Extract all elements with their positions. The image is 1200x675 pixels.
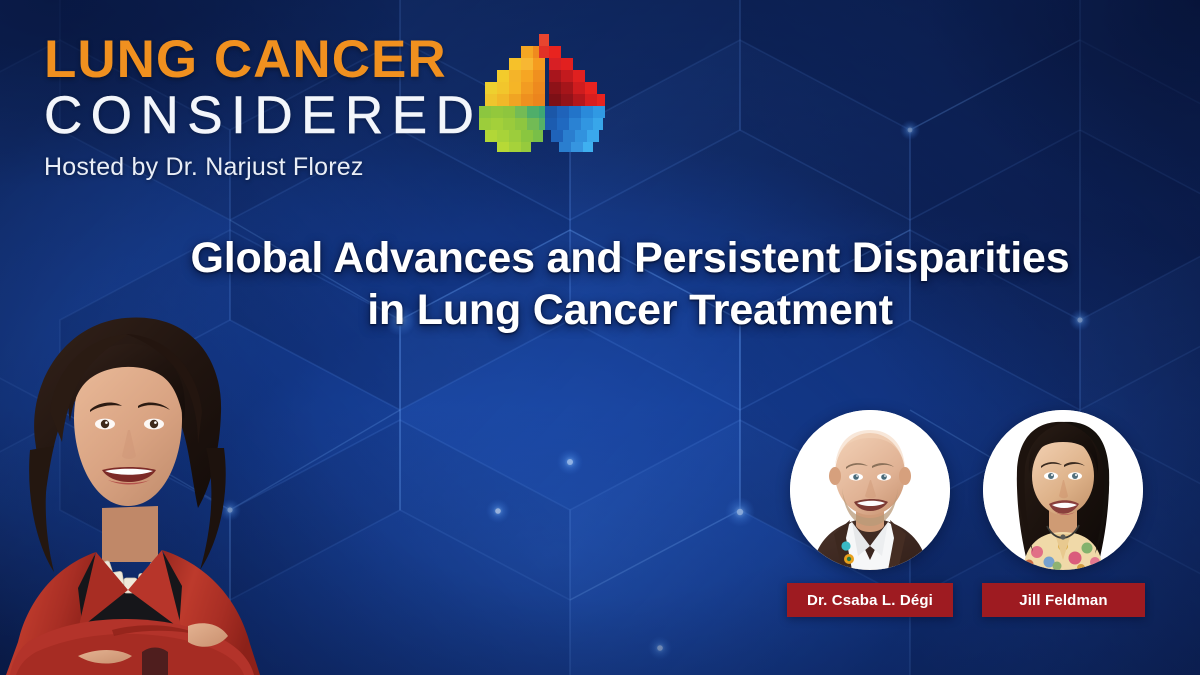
guest-card-1: Jill Feldman bbox=[983, 410, 1145, 617]
lung-logo-icon bbox=[473, 32, 609, 160]
guest-name-label: Dr. Csaba L. Dégi bbox=[807, 592, 933, 609]
avatar bbox=[790, 410, 950, 570]
guest-portrait-degi bbox=[790, 410, 950, 570]
guest-card-0: Dr. Csaba L. Dégi bbox=[790, 410, 953, 617]
episode-title-card: LUNG CANCER CONSIDERED Hosted by Dr. Nar… bbox=[0, 0, 1200, 675]
status-badge: Jill Feldman bbox=[982, 583, 1145, 617]
show-logo: LUNG CANCER CONSIDERED Hosted by Dr. Nar… bbox=[44, 33, 482, 182]
guest-portrait-feldman bbox=[983, 410, 1143, 570]
status-badge: Dr. Csaba L. Dégi bbox=[787, 583, 953, 617]
logo-title-considered: CONSIDERED bbox=[44, 88, 482, 144]
episode-title-line-1: Global Advances and Persistent Dispariti… bbox=[60, 232, 1200, 284]
host-credit-text: Hosted by Dr. Narjust Florez bbox=[44, 153, 482, 182]
avatar bbox=[983, 410, 1143, 570]
logo-title-lung-cancer: LUNG CANCER bbox=[44, 33, 482, 86]
guest-name-label: Jill Feldman bbox=[1019, 592, 1108, 609]
host-portrait bbox=[0, 300, 302, 675]
